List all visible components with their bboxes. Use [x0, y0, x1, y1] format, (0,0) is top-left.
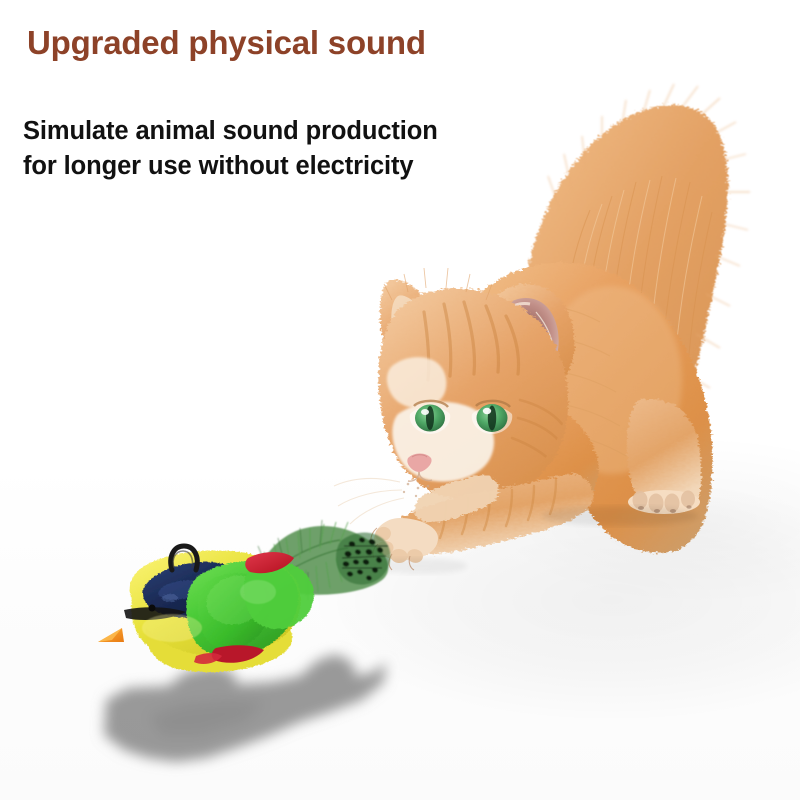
- bird-beak: [98, 628, 124, 642]
- page-title: Upgraded physical sound: [27, 24, 426, 62]
- page-subtitle: Simulate animal sound production for lon…: [23, 114, 438, 183]
- product-feature-image: Upgraded physical sound Simulate animal …: [0, 0, 800, 800]
- bird-body: [98, 546, 314, 672]
